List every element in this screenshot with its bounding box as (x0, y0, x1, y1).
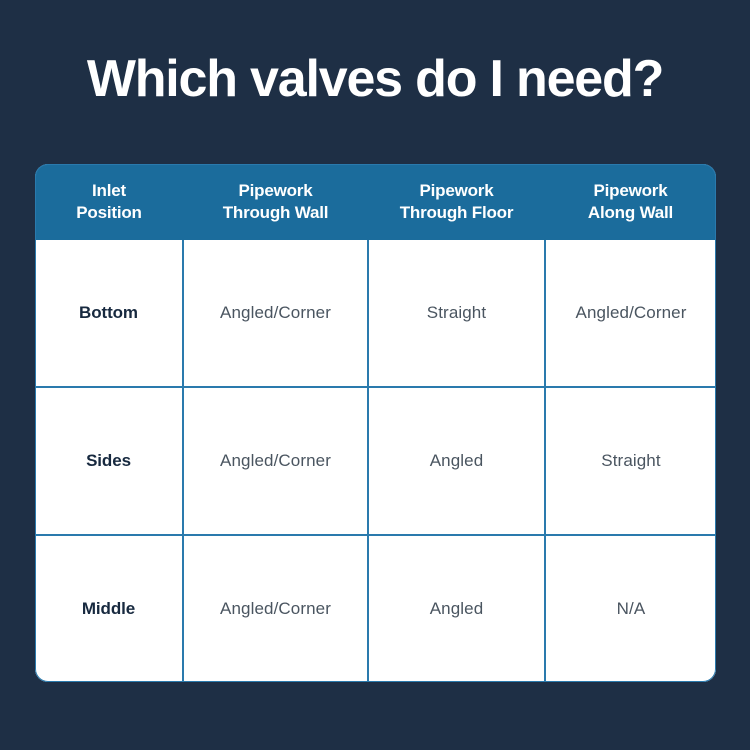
table-row: Middle Angled/Corner Angled N/A (35, 535, 716, 682)
cell-bottom-along-wall: Angled/Corner (545, 240, 716, 387)
cell-sides-through-wall: Angled/Corner (183, 387, 368, 534)
cell-bottom-through-floor: Straight (368, 240, 545, 387)
column-header-line-1: Pipework (189, 180, 362, 202)
column-header-pipework-through-floor: Pipework Through Floor (368, 164, 545, 240)
cell-sides-along-wall: Straight (545, 387, 716, 534)
column-header-line-2: Along Wall (551, 202, 710, 224)
column-header-line-2: Through Wall (189, 202, 362, 224)
infographic-page: Which valves do I need? Inlet Position P… (0, 0, 750, 750)
column-header-line-2: Position (41, 202, 177, 224)
cell-bottom-through-wall: Angled/Corner (183, 240, 368, 387)
column-header-line-1: Pipework (551, 180, 710, 202)
table-header-row: Inlet Position Pipework Through Wall Pip… (35, 164, 716, 240)
table-header: Inlet Position Pipework Through Wall Pip… (35, 164, 716, 240)
cell-middle-through-wall: Angled/Corner (183, 535, 368, 682)
table-row: Sides Angled/Corner Angled Straight (35, 387, 716, 534)
column-header-pipework-through-wall: Pipework Through Wall (183, 164, 368, 240)
column-header-line-2: Through Floor (374, 202, 539, 224)
cell-middle-through-floor: Angled (368, 535, 545, 682)
row-label-bottom: Bottom (35, 240, 183, 387)
cell-sides-through-floor: Angled (368, 387, 545, 534)
page-title: Which valves do I need? (0, 52, 750, 107)
row-label-sides: Sides (35, 387, 183, 534)
column-header-line-1: Pipework (374, 180, 539, 202)
row-label-middle: Middle (35, 535, 183, 682)
column-header-line-1: Inlet (41, 180, 177, 202)
column-header-inlet-position: Inlet Position (35, 164, 183, 240)
valve-selection-table-wrapper: Inlet Position Pipework Through Wall Pip… (35, 164, 716, 682)
valve-selection-table: Inlet Position Pipework Through Wall Pip… (35, 164, 716, 682)
cell-middle-along-wall: N/A (545, 535, 716, 682)
table-body: Bottom Angled/Corner Straight Angled/Cor… (35, 240, 716, 682)
column-header-pipework-along-wall: Pipework Along Wall (545, 164, 716, 240)
table-row: Bottom Angled/Corner Straight Angled/Cor… (35, 240, 716, 387)
